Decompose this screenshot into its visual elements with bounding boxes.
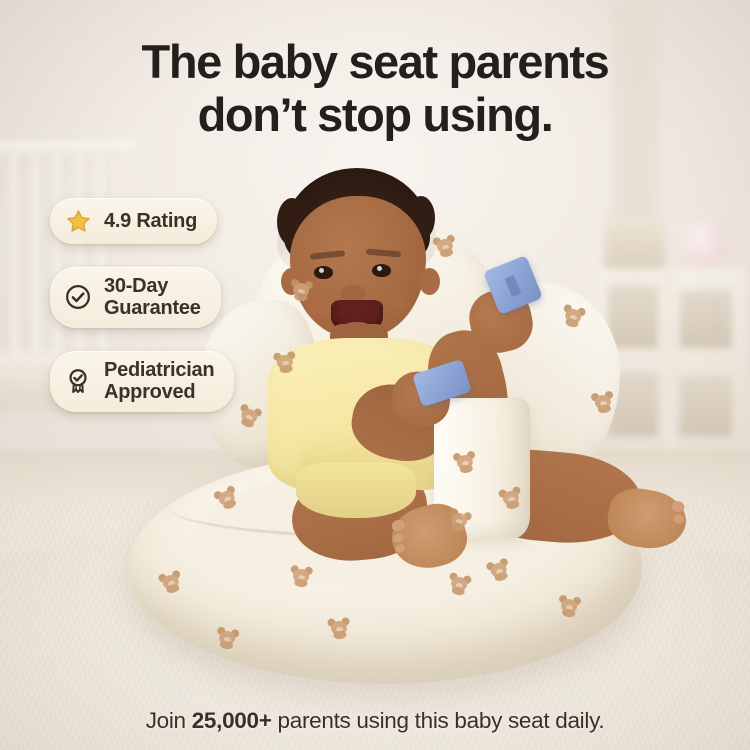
baby-eye-highlight-right <box>377 266 382 271</box>
footer-prefix: Join <box>146 708 192 733</box>
onesie-bottom <box>296 462 416 518</box>
headline-line-1: The baby seat parents <box>142 35 609 88</box>
social-proof-footer: Join 25,000+ parents using this baby sea… <box>0 708 750 734</box>
check-circle-icon <box>63 282 93 312</box>
footer-suffix: parents using this baby seat daily. <box>272 708 605 733</box>
award-rosette-icon <box>63 366 93 396</box>
star-icon <box>63 206 93 236</box>
badge-guarantee[interactable]: 30-Day Guarantee <box>50 267 221 328</box>
badge-rating-label: 4.9 Rating <box>104 210 197 232</box>
baby-eye-left <box>314 266 333 279</box>
baby-cheek-left <box>300 296 334 320</box>
trust-badge-list: 4.9 Rating 30-Day Guarantee Pediatri <box>50 198 234 412</box>
baby-cheek-right <box>384 292 418 316</box>
baby-ear-right <box>419 268 440 295</box>
baby-toe <box>673 514 685 525</box>
baby-toe <box>392 532 405 544</box>
footer-count: 25,000+ <box>192 708 272 733</box>
baby-right-foot <box>604 484 691 555</box>
ad-creative: The baby seat parents don’t stop using. … <box>0 0 750 750</box>
baby-toe <box>671 500 686 513</box>
badge-guarantee-label: 30-Day Guarantee <box>104 275 201 320</box>
page-title: The baby seat parents don’t stop using. <box>0 36 750 141</box>
headline-line-2: don’t stop using. <box>0 89 750 142</box>
baby-eye-right <box>372 264 391 277</box>
badge-rating[interactable]: 4.9 Rating <box>50 198 217 244</box>
baby-toe <box>394 543 406 553</box>
badge-pediatrician[interactable]: Pediatrician Approved <box>50 351 234 412</box>
badge-pediatrician-label: Pediatrician Approved <box>104 359 214 404</box>
baby-ear-left <box>281 268 302 295</box>
baby-eye-highlight-left <box>319 268 324 273</box>
